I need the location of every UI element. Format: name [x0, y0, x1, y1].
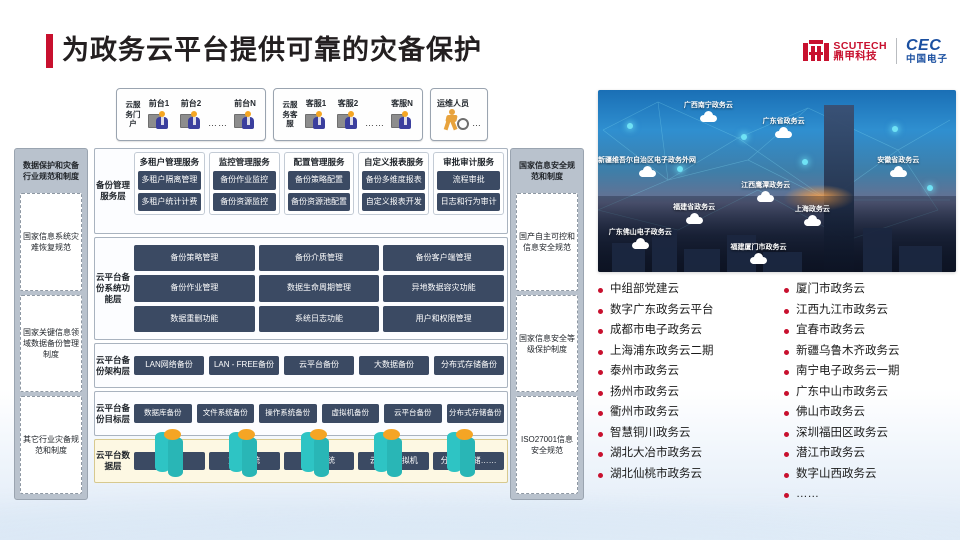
list-item: 广东中山市政务云	[784, 385, 960, 400]
actor-support-n: 客服N	[387, 99, 417, 131]
cloud-tag-2: 新疆维吾尔自治区电子政务外网	[598, 156, 696, 177]
case-right-2: 宜春市政务云	[796, 323, 865, 338]
bullet-icon	[784, 432, 789, 437]
bullet-icon	[784, 329, 789, 334]
service-chip-3-0[interactable]: 备份多维度报表	[362, 171, 425, 190]
cloud-icon	[686, 213, 703, 224]
cloud-tag-3-label: 江西鹰潭政务云	[741, 181, 790, 190]
case-right-8: 潜江市政务云	[796, 446, 865, 461]
list-item: 扬州市政务云	[598, 385, 774, 400]
cloud-tag-1: 广东省政务云	[763, 117, 805, 138]
data-chip-3[interactable]: 云平台虚拟机	[358, 452, 429, 471]
cec-logo: CEC 中国电子	[906, 38, 948, 65]
page-title: 为政务云平台提供可靠的灾备保护	[62, 32, 482, 68]
architecture-layer-stack: 备份管理服务层 多租户管理服务 多租户隔离管理 多租户统计计费 监控管理服务 备…	[94, 148, 508, 483]
case-right-9: 数字山西政务云	[796, 467, 877, 482]
case-left-6: 衢州市政务云	[610, 405, 679, 420]
standards-right-item-1: 国家信息安全等级保护制度	[516, 295, 578, 393]
cloud-tag-7: 广东佛山电子政务云	[609, 228, 672, 249]
case-left-4: 泰州市政务云	[610, 364, 679, 379]
bullet-icon	[598, 329, 603, 334]
cloud-tag-4-label: 安徽省政务云	[877, 156, 919, 165]
actor-ops: 运维人员	[436, 99, 470, 131]
function-chip-5[interactable]: 异地数据容灾功能	[383, 275, 504, 302]
scutech-cn-label: 鼎甲科技	[833, 51, 887, 62]
bullet-icon	[784, 411, 789, 416]
slide-header: 为政务云平台提供可靠的灾备保护 SCUTECH 鼎甲科技 CEC	[0, 0, 960, 88]
scutech-mark-icon	[803, 40, 829, 62]
actor-portal-2-label: 前台2	[181, 99, 201, 109]
list-item: 厦门市政务云	[784, 282, 960, 297]
actor-row: 云服务门户 前台1 前台2 …… 前台N	[116, 88, 488, 141]
service-chip-4-1[interactable]: 日志和行为审计	[437, 193, 500, 212]
service-column-1: 监控管理服务 备份作业监控 备份资源监控	[209, 152, 280, 215]
layer-2-label: 云平台备份架构层	[95, 344, 131, 387]
case-left-8: 湖北大冶市政务云	[610, 446, 702, 461]
title-accent-bar	[46, 34, 53, 68]
service-column-3: 自定义报表服务 备份多维度报表 自定义报表开发	[358, 152, 429, 215]
layer-backup-management-service: 备份管理服务层 多租户管理服务 多租户隔离管理 多租户统计计费 监控管理服务 备…	[94, 148, 508, 234]
case-right-10: ……	[796, 487, 819, 502]
list-item: 智慧铜川政务云	[598, 426, 774, 441]
bullet-icon	[598, 411, 603, 416]
logo-group: SCUTECH 鼎甲科技 CEC 中国电子	[803, 38, 948, 65]
service-column-1-title: 监控管理服务	[213, 156, 276, 168]
list-item: 佛山市政务云	[784, 405, 960, 420]
actor-portal-n-label: 前台N	[234, 99, 256, 109]
function-chip-6[interactable]: 数据重删功能	[134, 306, 255, 333]
list-item: 南宁电子政务云一期	[784, 364, 960, 379]
bullet-icon	[598, 452, 603, 457]
bullet-icon	[598, 391, 603, 396]
case-right-5: 广东中山市政务云	[796, 385, 888, 400]
list-item: 宜春市政务云	[784, 323, 960, 338]
bullet-icon	[598, 473, 603, 478]
target-chip-4[interactable]: 云平台备份	[384, 404, 442, 423]
cloud-icon	[639, 166, 656, 177]
user-desktop-icon	[391, 110, 413, 131]
layer-backup-system-function: 云平台备份系统功能层 备份策略管理 备份介质管理 备份客户端管理 备份作业管理 …	[94, 237, 508, 340]
layer-backup-architecture: 云平台备份架构层 LAN网络备份 LAN - FREE备份 云平台备份 大数据备…	[94, 343, 508, 388]
list-item: 成都市电子政务云	[598, 323, 774, 338]
bullet-icon	[598, 350, 603, 355]
standards-left-item-1: 国家关键信息领域数据备份管理制度	[20, 295, 82, 393]
service-column-4-title: 审批审计服务	[437, 156, 500, 168]
function-chip-4[interactable]: 数据生命周期管理	[259, 275, 380, 302]
standards-right-panel: 国家信息安全规范和制度 国产自主可控和信息安全规范 国家信息安全等级保护制度 I…	[510, 148, 584, 500]
cloud-tag-6: 上海政务云	[795, 205, 830, 226]
actor-portal-1-label: 前台1	[149, 99, 169, 109]
standards-left-item-0: 国家信息系统灾难恢复规范	[20, 193, 82, 291]
case-lists: 中组部党建云 数字广东政务云平台 成都市电子政务云 上海浦东政务云二期 泰州市政…	[598, 282, 960, 508]
service-chip-3-1[interactable]: 自定义报表开发	[362, 193, 425, 212]
case-left-5: 扬州市政务云	[610, 385, 679, 400]
case-list-right: 厦门市政务云 江西九江市政务云 宜春市政务云 新疆乌鲁木齐政务云 南宁电子政务云…	[784, 282, 960, 508]
data-chip-2[interactable]: 操作系统	[284, 452, 355, 471]
cloud-icon	[804, 215, 821, 226]
layer-1-label: 云平台备份系统功能层	[95, 238, 131, 339]
cloud-icon	[700, 111, 717, 122]
cec-en-label: CEC	[906, 38, 948, 55]
user-desktop-icon	[337, 110, 359, 131]
service-column-3-title: 自定义报表服务	[362, 156, 425, 168]
cloud-tag-4: 安徽省政务云	[877, 156, 919, 177]
actor-ops-label: 运维人员	[437, 99, 469, 109]
scutech-logo: SCUTECH 鼎甲科技	[803, 40, 887, 62]
service-chip-2-0[interactable]: 备份策略配置	[288, 171, 351, 190]
target-chip-1[interactable]: 文件系统备份	[197, 404, 255, 423]
actor-support-ellipsis-icon: ……	[365, 118, 385, 131]
cloud-icon	[890, 166, 907, 177]
cloud-icon	[750, 253, 767, 264]
case-left-9: 湖北仙桃市政务云	[610, 467, 702, 482]
function-chip-8[interactable]: 用户和权限管理	[383, 306, 504, 333]
user-desktop-icon	[148, 110, 170, 131]
arch-chip-2[interactable]: 云平台备份	[284, 356, 354, 375]
service-chip-4-0[interactable]: 流程审批	[437, 171, 500, 190]
list-item: 数字广东政务云平台	[598, 303, 774, 318]
actor-support-n-label: 客服N	[391, 99, 413, 109]
case-left-0: 中组部党建云	[610, 282, 679, 297]
bullet-icon	[784, 350, 789, 355]
cloud-tag-3: 江西鹰潭政务云	[741, 181, 790, 202]
layer-3-label: 云平台备份目标层	[95, 392, 131, 435]
list-item: 江西九江市政务云	[784, 303, 960, 318]
bullet-icon	[598, 309, 603, 314]
list-item: 数字山西政务云	[784, 467, 960, 482]
worker-icon	[441, 109, 465, 131]
standards-right-item-2: ISO27001信息安全规范	[516, 396, 578, 494]
case-list-left: 中组部党建云 数字广东政务云平台 成都市电子政务云 上海浦东政务云二期 泰州市政…	[598, 282, 774, 508]
list-item: 新疆乌鲁木齐政务云	[784, 344, 960, 359]
actor-ops-ellipsis-icon: …	[472, 118, 482, 131]
layer-backup-target: 云平台备份目标层 数据库备份 文件系统备份 操作系统备份 虚拟机备份 云平台备份…	[94, 391, 508, 436]
function-chip-1[interactable]: 备份介质管理	[259, 245, 380, 272]
bullet-icon	[784, 391, 789, 396]
actor-group-ops: 运维人员 …	[430, 88, 488, 141]
actor-support-1-label: 客服1	[306, 99, 326, 109]
user-desktop-icon	[234, 110, 256, 131]
list-item: 深圳福田区政务云	[784, 426, 960, 441]
actor-group-portal: 云服务门户 前台1 前台2 …… 前台N	[116, 88, 266, 141]
arch-chip-3[interactable]: 大数据备份	[359, 356, 429, 375]
bullet-icon	[784, 288, 789, 293]
case-right-6: 佛山市政务云	[796, 405, 865, 420]
cloud-tag-1-label: 广东省政务云	[763, 117, 805, 126]
actor-portal-n: 前台N	[230, 99, 260, 131]
bullet-icon	[598, 288, 603, 293]
data-chip-4[interactable]: 分布式存储……	[433, 452, 504, 471]
bullet-icon	[784, 370, 789, 375]
target-chip-0[interactable]: 数据库备份	[134, 404, 192, 423]
actor-support-2-label: 客服2	[338, 99, 358, 109]
function-chip-7[interactable]: 系统日志功能	[259, 306, 380, 333]
list-item: 潜江市政务云	[784, 446, 960, 461]
list-item: 中组部党建云	[598, 282, 774, 297]
logo-divider	[896, 38, 897, 64]
slide-root: 为政务云平台提供可靠的灾备保护 SCUTECH 鼎甲科技 CEC	[0, 0, 960, 540]
standards-left-item-2: 其它行业灾备规范和制度	[20, 396, 82, 494]
list-item: 湖北仙桃市政务云	[598, 467, 774, 482]
architecture-diagram: 云服务门户 前台1 前台2 …… 前台N	[14, 88, 592, 506]
function-chip-3[interactable]: 备份作业管理	[134, 275, 255, 302]
target-chip-5[interactable]: 分布式存储备份	[447, 404, 505, 423]
service-column-0: 多租户管理服务 多租户隔离管理 多租户统计计费	[134, 152, 205, 215]
data-chip-1[interactable]: 文件系统	[209, 452, 280, 471]
actor-support-1: 客服1	[301, 99, 331, 131]
arch-chip-4[interactable]: 分布式存储备份	[434, 356, 504, 375]
cloud-icon	[632, 238, 649, 249]
layer-cloud-data: 云平台数据层 数据库 文件系统 操作系统 云平台虚拟机 分布式存储……	[94, 439, 508, 483]
service-chip-1-0[interactable]: 备份作业监控	[213, 171, 276, 190]
bullet-icon	[784, 473, 789, 478]
case-right-1: 江西九江市政务云	[796, 303, 888, 318]
service-chip-1-1[interactable]: 备份资源监控	[213, 193, 276, 212]
service-chip-2-1[interactable]: 备份资源池配置	[288, 193, 351, 212]
cloud-tag-0: 广西南宁政务云	[684, 101, 733, 122]
case-left-2: 成都市电子政务云	[610, 323, 702, 338]
service-column-2: 配置管理服务 备份策略配置 备份资源池配置	[284, 152, 355, 215]
bullet-icon	[784, 452, 789, 457]
bullet-icon	[598, 432, 603, 437]
target-chip-2[interactable]: 操作系统备份	[259, 404, 317, 423]
cloud-tag-8: 福建厦门市政务云	[730, 243, 786, 264]
target-chip-3[interactable]: 虚拟机备份	[322, 404, 380, 423]
list-item: 湖北大冶市政务云	[598, 446, 774, 461]
case-left-7: 智慧铜川政务云	[610, 426, 691, 441]
cloud-tag-2-label: 新疆维吾尔自治区电子政务外网	[598, 156, 696, 165]
actor-portal-ellipsis-icon: ……	[208, 118, 228, 131]
cloud-tag-7-label: 广东佛山电子政务云	[609, 228, 672, 237]
user-desktop-icon	[180, 110, 202, 131]
list-item: ……	[784, 487, 960, 502]
case-right-4: 南宁电子政务云一期	[796, 364, 900, 379]
cloud-icon	[775, 127, 792, 138]
layer-0-label: 备份管理服务层	[95, 149, 131, 233]
cloud-tag-5-label: 福建省政务云	[673, 203, 715, 212]
standards-left-heading: 数据保护和灾备行业规范和制度	[20, 154, 82, 189]
list-item: 衢州市政务云	[598, 405, 774, 420]
cloud-tag-0-label: 广西南宁政务云	[684, 101, 733, 110]
bullet-icon	[784, 493, 789, 498]
case-right-3: 新疆乌鲁木齐政务云	[796, 344, 900, 359]
actor-portal-2: 前台2	[176, 99, 206, 131]
cloud-icon	[757, 191, 774, 202]
case-right-0: 厦门市政务云	[796, 282, 865, 297]
cloud-tag-5: 福建省政务云	[673, 203, 715, 224]
actor-group-portal-label: 云服务门户	[122, 100, 144, 129]
arch-chip-0[interactable]: LAN网络备份	[134, 356, 204, 375]
layer-4-label: 云平台数据层	[95, 440, 131, 482]
arch-chip-1[interactable]: LAN - FREE备份	[209, 356, 279, 375]
function-chip-0[interactable]: 备份策略管理	[134, 245, 255, 272]
cloud-tag-8-label: 福建厦门市政务云	[730, 243, 786, 252]
actor-portal-1: 前台1	[144, 99, 174, 131]
service-column-2-title: 配置管理服务	[288, 156, 351, 168]
cloud-tag-6-label: 上海政务云	[795, 205, 830, 214]
list-item: 泰州市政务云	[598, 364, 774, 379]
user-desktop-icon	[305, 110, 327, 131]
bullet-icon	[598, 370, 603, 375]
case-left-1: 数字广东政务云平台	[610, 303, 714, 318]
service-column-4: 审批审计服务 流程审批 日志和行为审计	[433, 152, 504, 215]
actor-group-support: 云服务客服 客服1 客服2 …… 客服N	[273, 88, 423, 141]
standards-left-panel: 数据保护和灾备行业规范和制度 国家信息系统灾难恢复规范 国家关键信息领域数据备份…	[14, 148, 88, 500]
standards-right-item-0: 国产自主可控和信息安全规范	[516, 193, 578, 291]
bullet-icon	[784, 309, 789, 314]
actor-group-support-label: 云服务客服	[279, 100, 301, 129]
service-column-0-title: 多租户管理服务	[138, 156, 201, 168]
case-left-3: 上海浦东政务云二期	[610, 344, 714, 359]
service-chip-0-1[interactable]: 多租户统计计费	[138, 193, 201, 212]
actor-support-2: 客服2	[333, 99, 363, 131]
case-right-7: 深圳福田区政务云	[796, 426, 888, 441]
service-chip-0-0[interactable]: 多租户隔离管理	[138, 171, 201, 190]
data-chip-0[interactable]: 数据库	[134, 452, 205, 471]
standards-right-heading: 国家信息安全规范和制度	[516, 154, 578, 189]
cec-cn-label: 中国电子	[906, 55, 948, 65]
city-cloud-photo: 广西南宁政务云 广东省政务云 新疆维吾尔自治区电子政务外网 江西鹰潭政务云 安徽…	[598, 90, 956, 272]
function-chip-2[interactable]: 备份客户端管理	[383, 245, 504, 272]
list-item: 上海浦东政务云二期	[598, 344, 774, 359]
